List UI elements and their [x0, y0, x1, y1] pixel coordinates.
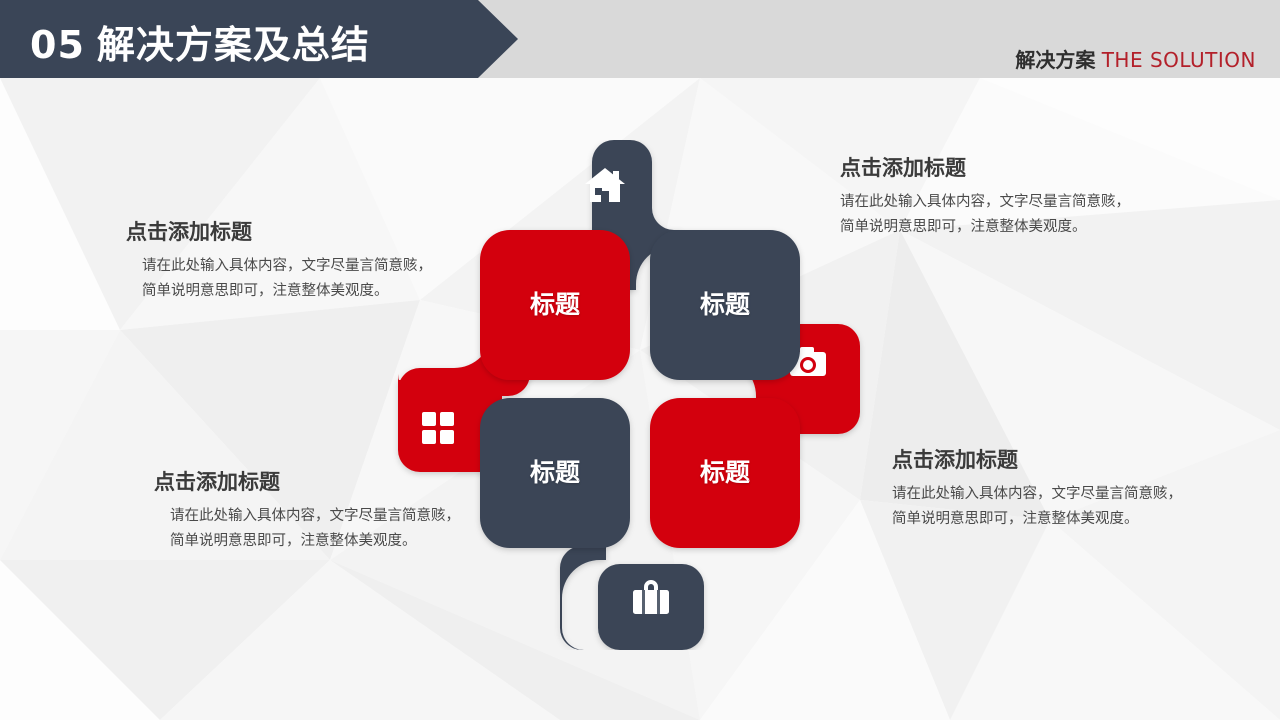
text-block-bottom-left-body: 请在此处输入具体内容，文字尽量言简意赅，简单说明意思即可，注意整体美观度。	[170, 504, 470, 554]
text-block-top-right[interactable]: 点击添加标题 请在此处输入具体内容，文字尽量言简意赅，简单说明意思即可，注意整体…	[840, 152, 1160, 240]
icon-node-bottom[interactable]	[560, 546, 704, 650]
page-title: 05解决方案及总结	[30, 14, 370, 69]
slide-canvas: 05解决方案及总结 解决方案 THE SOLUTION	[0, 0, 1280, 720]
text-block-top-left[interactable]: 点击添加标题 请在此处输入具体内容，文字尽量言简意赅，简单说明意思即可，注意整体…	[118, 216, 438, 304]
section-label-cn: 解决方案	[1015, 48, 1095, 72]
text-block-top-right-body: 请在此处输入具体内容，文字尽量言简意赅，简单说明意思即可，注意整体美观度。	[840, 190, 1140, 240]
center-diagram: 标题 标题 标题 标题	[390, 140, 890, 650]
diagram-shapes	[390, 140, 890, 650]
text-block-top-left-title: 点击添加标题	[126, 216, 438, 246]
tile-top-left[interactable]	[480, 230, 630, 380]
text-block-bottom-left-title: 点击添加标题	[154, 466, 470, 496]
section-label: 解决方案 THE SOLUTION	[1015, 44, 1256, 73]
text-block-bottom-right-body: 请在此处输入具体内容，文字尽量言简意赅，简单说明意思即可，注意整体美观度。	[892, 482, 1192, 532]
page-title-number: 05	[30, 23, 85, 67]
tile-bottom-left[interactable]	[480, 398, 630, 548]
text-block-top-right-title: 点击添加标题	[840, 152, 1160, 182]
tile-bottom-right[interactable]	[650, 398, 800, 548]
text-block-top-left-body: 请在此处输入具体内容，文字尽量言简意赅，简单说明意思即可，注意整体美观度。	[142, 254, 442, 304]
text-block-bottom-left[interactable]: 点击添加标题 请在此处输入具体内容，文字尽量言简意赅，简单说明意思即可，注意整体…	[140, 466, 470, 554]
text-block-bottom-right-title: 点击添加标题	[892, 444, 1212, 474]
page-title-text: 解决方案及总结	[97, 23, 370, 67]
tile-top-right[interactable]	[650, 230, 800, 380]
section-label-en: THE SOLUTION	[1102, 48, 1256, 72]
text-block-bottom-right[interactable]: 点击添加标题 请在此处输入具体内容，文字尽量言简意赅，简单说明意思即可，注意整体…	[892, 444, 1212, 532]
